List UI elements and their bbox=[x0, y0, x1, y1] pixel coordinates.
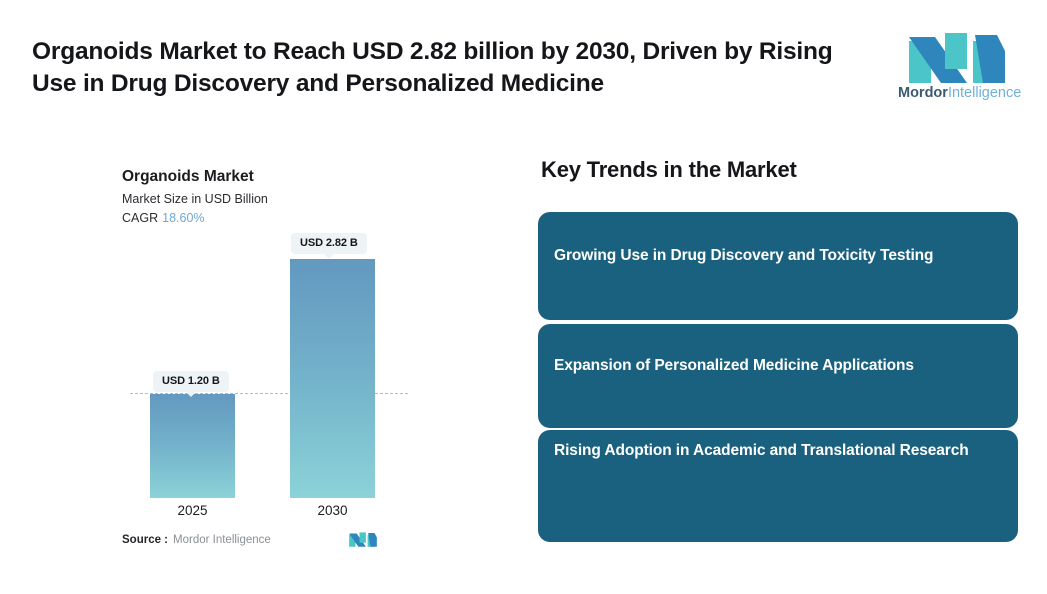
brand-word-secondary: Intelligence bbox=[948, 85, 1021, 101]
bar-2025 bbox=[150, 394, 235, 498]
source-label: Source : bbox=[122, 534, 168, 546]
bar-value-label-2025: USD 1.20 B bbox=[153, 371, 229, 392]
bar-2030 bbox=[290, 259, 375, 498]
brand-word-primary: Mordor bbox=[898, 85, 948, 101]
trend-card-text: Expansion of Personalized Medicine Appli… bbox=[554, 353, 996, 378]
source-value: Mordor Intelligence bbox=[173, 534, 271, 546]
trend-card-text: Rising Adoption in Academic and Translat… bbox=[554, 438, 996, 463]
chart-panel: Organoids Market Market Size in USD Bill… bbox=[0, 0, 470, 594]
key-trends-heading: Key Trends in the Market bbox=[541, 157, 797, 183]
source-row: Source :Mordor Intelligence bbox=[122, 534, 382, 546]
brand-wordmark: MordorIntelligence bbox=[898, 84, 1018, 102]
trend-card[interactable]: Growing Use in Drug Discovery and Toxici… bbox=[538, 212, 1018, 320]
trend-card[interactable]: Rising Adoption in Academic and Translat… bbox=[538, 430, 1018, 542]
bar-chart-plot-area: USD 1.20 B USD 2.82 B 2025 2030 bbox=[0, 0, 470, 594]
x-axis-label-2030: 2030 bbox=[290, 503, 375, 518]
bar-value-label-2030: USD 2.82 B bbox=[291, 233, 367, 254]
trend-card[interactable]: Expansion of Personalized Medicine Appli… bbox=[538, 324, 1018, 428]
mordor-intelligence-mark-icon bbox=[348, 530, 378, 548]
mordor-intelligence-logo-icon bbox=[905, 29, 1009, 83]
brand-logo: MordorIntelligence bbox=[898, 29, 1018, 105]
trend-card-text: Growing Use in Drug Discovery and Toxici… bbox=[554, 243, 996, 268]
x-axis-label-2025: 2025 bbox=[150, 503, 235, 518]
